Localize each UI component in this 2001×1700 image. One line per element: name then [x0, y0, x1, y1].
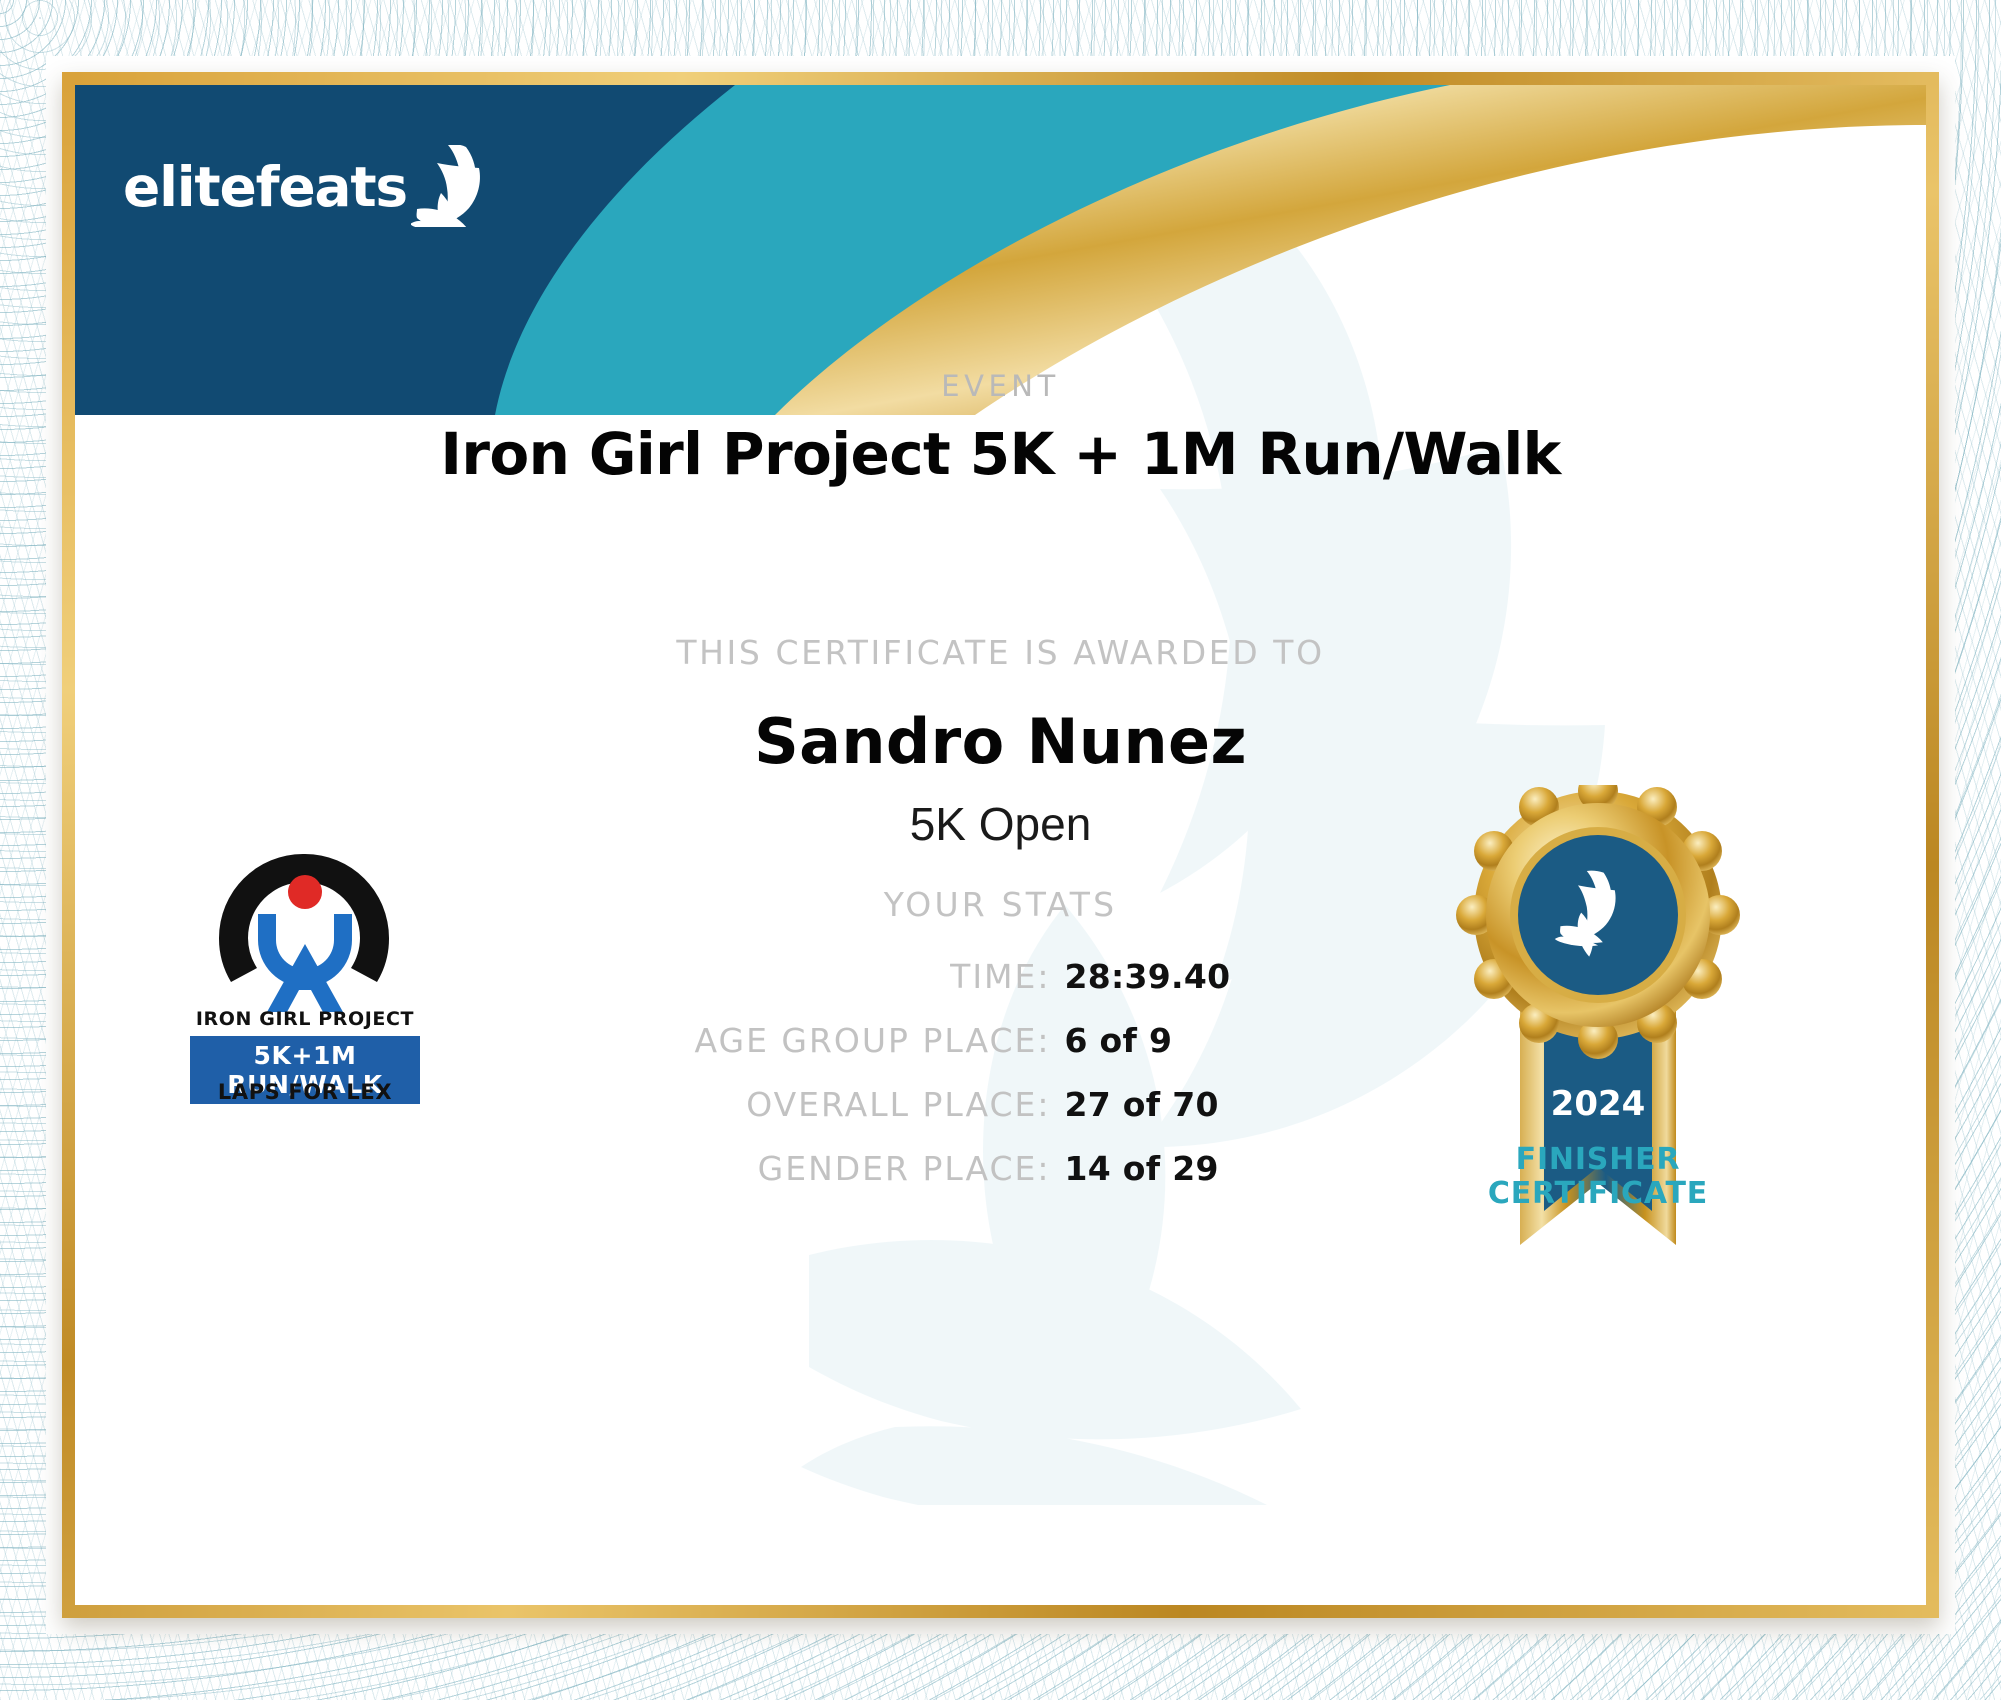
stat-label: OVERALL PLACE:: [541, 1085, 1061, 1124]
certificate-canvas: elitefeats EVENT Iron Girl Project 5K + …: [75, 85, 1926, 1616]
medal-year: 2024: [1551, 1084, 1646, 1124]
stat-value: 6 of 9: [1061, 1021, 1461, 1060]
stat-value: 14 of 29: [1061, 1149, 1461, 1188]
medal-caption-line1: FINISHER: [1448, 1143, 1748, 1177]
stat-label: AGE GROUP PLACE:: [541, 1021, 1061, 1060]
stat-label: GENDER PLACE:: [541, 1149, 1061, 1188]
recipient-name: Sandro Nunez: [75, 705, 1926, 778]
medal-caption-line2: CERTIFICATE: [1448, 1177, 1748, 1211]
stat-value: 27 of 70: [1061, 1085, 1461, 1124]
medal-caption: FINISHER CERTIFICATE: [1448, 1143, 1748, 1210]
stat-label: TIME:: [541, 957, 1061, 996]
iron-girl-project-tagline: LAPS FOR LEX: [190, 1080, 420, 1104]
awarded-to-label: THIS CERTIFICATE IS AWARDED TO: [75, 633, 1926, 672]
event-title: Iron Girl Project 5K + 1M Run/Walk: [75, 420, 1926, 488]
iron-girl-project-logo: IRON GIRL PROJECT 5K+1M RUN/WALK LAPS FO…: [180, 840, 430, 1115]
iron-girl-project-mark-icon: [180, 840, 430, 1015]
iron-girl-project-title: IRON GIRL PROJECT: [190, 1008, 420, 1030]
event-label: EVENT: [75, 369, 1926, 403]
certificate: elitefeats EVENT Iron Girl Project 5K + …: [0, 0, 2001, 1700]
stat-value: 28:39.40: [1061, 957, 1461, 996]
